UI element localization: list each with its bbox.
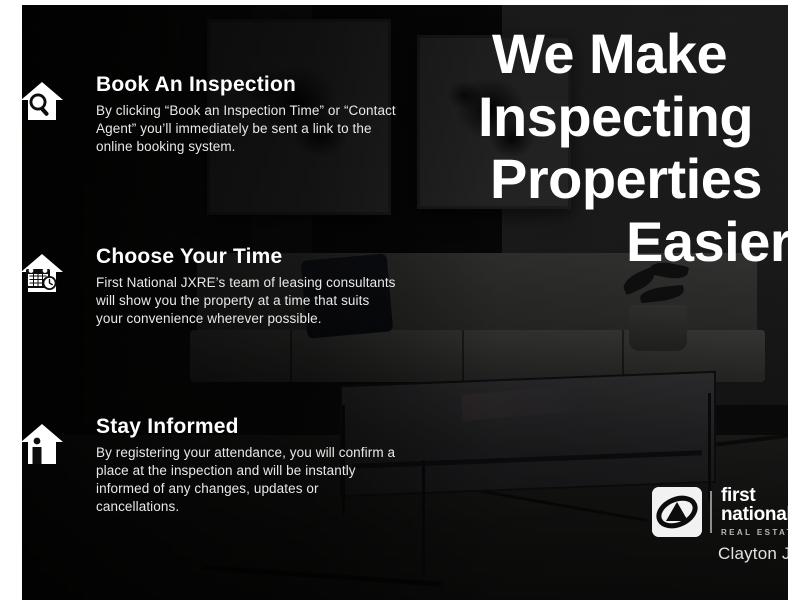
feature-body: Choose Your Time First National JXRE’s t… [96, 245, 400, 328]
banner-content: Book An Inspection By clicking “Book an … [22, 5, 788, 600]
headline: We Make Inspecting Properties Easier [478, 23, 788, 274]
feature-title: Book An Inspection [96, 73, 400, 96]
feature-stay-informed: Stay Informed By registering your attend… [22, 415, 400, 516]
brand-divider [710, 491, 712, 533]
headline-line-4: Easier [478, 211, 788, 274]
feature-title: Stay Informed [96, 415, 400, 438]
page-canvas: Book An Inspection By clicking “Book an … [0, 0, 800, 600]
headline-line-2: Inspecting [478, 86, 788, 149]
brand-row: first national REAL ESTATE [652, 487, 788, 537]
headline-line-1: We Make [478, 23, 788, 86]
brand-word-national: national [721, 506, 788, 525]
house-magnifier-icon [22, 77, 66, 125]
brand-lockup: first national REAL ESTATE Clayton JXRE [652, 487, 788, 564]
brand-subtitle: REAL ESTATE [721, 528, 788, 537]
feature-description: By clicking “Book an Inspection Time” or… [96, 102, 396, 156]
first-national-logo-icon [652, 487, 702, 537]
brand-office-name: Clayton JXRE [718, 544, 788, 564]
house-info-icon [22, 419, 66, 467]
feature-book-an-inspection: Book An Inspection By clicking “Book an … [22, 73, 400, 156]
feature-title: Choose Your Time [96, 245, 400, 268]
feature-choose-your-time: Choose Your Time First National JXRE’s t… [22, 245, 400, 328]
feature-body: Book An Inspection By clicking “Book an … [96, 73, 400, 156]
house-calendar-clock-icon [22, 249, 66, 297]
feature-description: First National JXRE’s team of leasing co… [96, 274, 396, 328]
feature-body: Stay Informed By registering your attend… [96, 415, 400, 516]
headline-line-3: Properties [478, 148, 788, 211]
promo-banner: Book An Inspection By clicking “Book an … [22, 5, 788, 600]
brand-wordmark: first national REAL ESTATE [721, 487, 788, 536]
feature-description: By registering your attendance, you will… [96, 444, 396, 516]
